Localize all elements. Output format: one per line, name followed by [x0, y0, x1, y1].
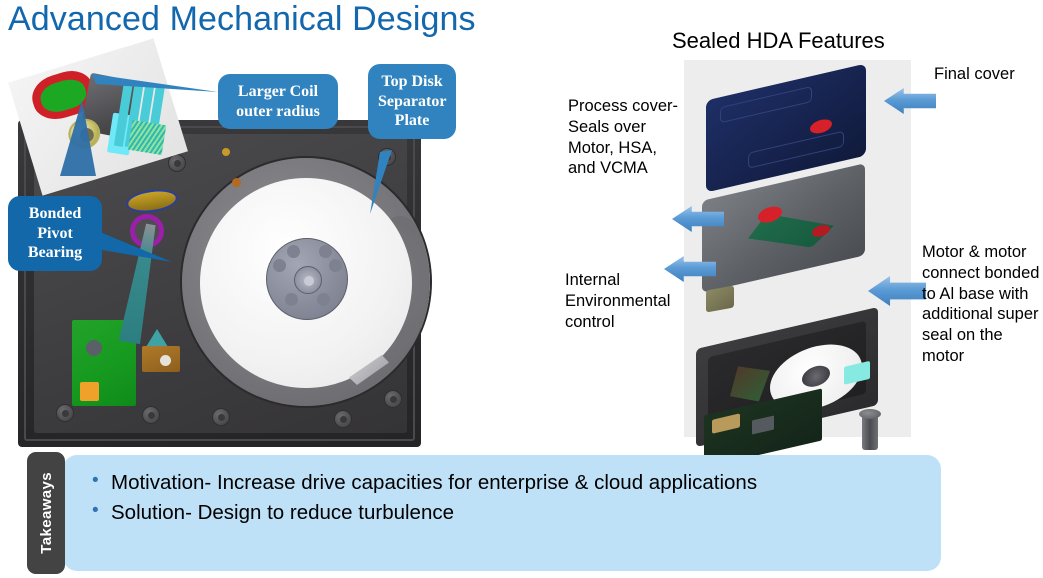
takeaway-text: Motivation- Increase drive capacities fo…	[111, 471, 757, 495]
voice-coil-green-core	[37, 75, 89, 116]
deck-screw	[384, 390, 402, 408]
takeaway-text: Solution- Design to reduce turbulence	[111, 501, 454, 525]
top-disk-separator-plate	[182, 158, 430, 406]
deck-marker-dot	[222, 148, 230, 156]
actuator-latch	[142, 346, 180, 372]
takeaway-item: • Solution- Design to reduce turbulence	[92, 501, 757, 525]
spindle-motor-hub	[266, 238, 348, 320]
takeaways-tab: Takeaways	[27, 452, 65, 574]
takeaway-item: • Motivation- Increase drive capacities …	[92, 471, 757, 495]
sealed-hda-features-heading: Sealed HDA Features	[672, 28, 885, 54]
label-motor-connect: Motor & motor connect bonded to Al base …	[922, 242, 1040, 367]
cover-seal-port	[810, 117, 832, 135]
pcb-controller-chip	[752, 415, 774, 434]
head-tip	[146, 329, 168, 347]
pcb-screw	[86, 340, 102, 356]
voice-coil-ellipse	[125, 186, 180, 215]
spindle-screw	[317, 293, 330, 306]
latch-dot	[160, 355, 171, 366]
pcb-orange-chip	[80, 382, 99, 401]
deck-screw	[212, 408, 230, 426]
takeaways-tab-label: Takeaways	[38, 472, 55, 554]
spindle-center-hub	[294, 266, 322, 294]
callout-larger-coil[interactable]: Larger Coil outer radius	[218, 74, 338, 129]
deck-screw	[142, 406, 160, 424]
takeaways-list: • Motivation- Increase drive capacities …	[92, 471, 757, 530]
sealed-hda-exploded-diagram	[684, 60, 911, 437]
callout-top-disk-separator-plate[interactable]: Top Disk Separator Plate	[368, 64, 456, 139]
cover-groove	[720, 86, 812, 123]
spindle-screw	[319, 245, 332, 258]
label-internal-control: Internal Environmental control	[565, 270, 690, 332]
spindle-hole	[304, 276, 314, 286]
motor-connector-screw-part	[862, 414, 878, 450]
label-final-cover: Final cover	[934, 64, 1034, 85]
spindle-screw	[285, 293, 298, 306]
page-title: Advanced Mechanical Designs	[8, 0, 476, 39]
deck-screw	[334, 410, 352, 428]
hdd-internal-photo	[18, 120, 421, 447]
label-process-cover: Process cover-Seals over Motor, HSA, and…	[568, 96, 688, 179]
deck-screw	[378, 148, 396, 166]
deck-screw	[56, 404, 74, 422]
base-disk-hub	[802, 363, 830, 389]
bullet-icon: •	[92, 501, 111, 520]
pcb-connector	[712, 413, 740, 433]
deck-marker-dot	[232, 178, 241, 187]
spindle-screw	[273, 259, 286, 272]
internal-environmental-control-part	[706, 286, 734, 313]
bullet-icon: •	[92, 471, 111, 490]
cover-groove	[748, 131, 844, 169]
inset-pivot-core	[78, 126, 95, 143]
inset-head-comb	[128, 120, 166, 155]
callout-bonded-pivot-bearing[interactable]: Bonded Pivot Bearing	[8, 196, 102, 271]
spindle-screw	[287, 245, 300, 258]
spindle-screw	[329, 259, 342, 272]
deck-screw	[168, 154, 186, 172]
